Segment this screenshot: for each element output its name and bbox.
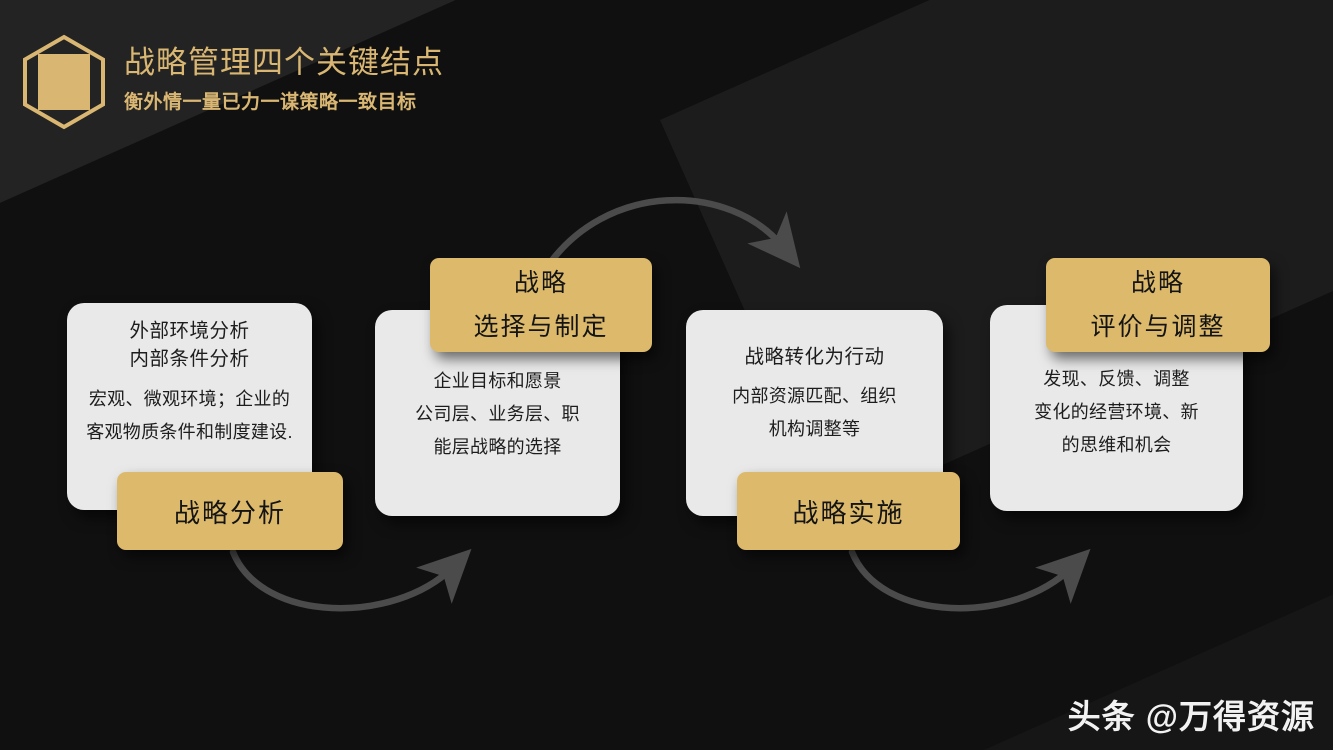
card1-gold-label-text: 战略分析 — [174, 493, 286, 530]
card1-head-line1: 外部环境分析 — [67, 317, 312, 345]
arrow-bottom-card3-to-card4 — [852, 552, 1071, 608]
card4-body-line1: 发现、反馈、调整 — [990, 363, 1243, 396]
card1-head: 外部环境分析 内部条件分析 — [67, 317, 312, 373]
card4-body-line2: 变化的经营环境、新 — [990, 396, 1243, 429]
card4-body: 发现、反馈、调整 变化的经营环境、新 的思维和机会 — [990, 363, 1243, 462]
card2-body-line2: 公司层、业务层、职 — [375, 398, 620, 431]
card2-gold-header-strategy-selection[interactable]: 战略 选择与制定 — [430, 258, 652, 352]
card3-body: 内部资源匹配、组织 机构调整等 — [686, 380, 943, 446]
card3-head: 战略转化为行动 — [686, 343, 943, 371]
card2-body-line3: 能层战略的选择 — [375, 431, 620, 464]
card2-body: 企业目标和愿景 公司层、业务层、职 能层战略的选择 — [375, 365, 620, 464]
card1-body: 宏观、微观环境；企业的 客观物质条件和制度建设. — [67, 383, 312, 449]
slide-stage: 战略管理四个关键结点 衡外情一量已力一谋策略一致目标 外部环境分析 内部条件分析… — [0, 0, 1333, 750]
card4-gold-header-line1: 战略 — [1131, 261, 1185, 305]
card2-body-line1: 企业目标和愿景 — [375, 365, 620, 398]
card3-body-line2: 机构调整等 — [686, 413, 943, 446]
card4-gold-header-strategy-evaluation[interactable]: 战略 评价与调整 — [1046, 258, 1270, 352]
card1-head-line2: 内部条件分析 — [67, 345, 312, 373]
card1-body-line1: 宏观、微观环境；企业的 — [67, 383, 312, 416]
card2-gold-header-line2: 选择与制定 — [473, 305, 608, 349]
card1-gold-label-strategy-analysis[interactable]: 战略分析 — [117, 472, 343, 550]
card3-gold-label-text: 战略实施 — [792, 493, 904, 530]
arrow-bottom-card1-to-card2 — [233, 552, 452, 608]
card1-body-line2: 客观物质条件和制度建设. — [67, 416, 312, 449]
card4-gold-header-line2: 评价与调整 — [1090, 305, 1225, 349]
card3-head-line1: 战略转化为行动 — [686, 343, 943, 371]
card3-gold-label-strategy-implementation[interactable]: 战略实施 — [737, 472, 960, 550]
watermark: 头条 @万得资源 — [1068, 690, 1315, 738]
card4-body-line3: 的思维和机会 — [990, 429, 1243, 462]
card3-body-line1: 内部资源匹配、组织 — [686, 380, 943, 413]
card2-gold-header-line1: 战略 — [514, 261, 568, 305]
